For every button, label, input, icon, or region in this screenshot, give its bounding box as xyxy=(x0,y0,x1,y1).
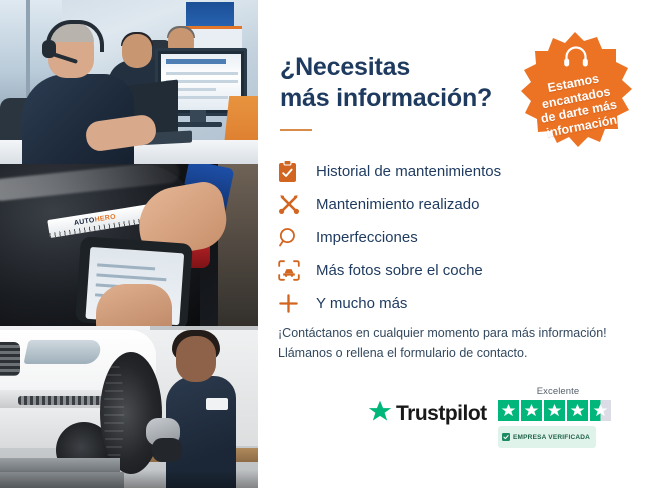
inspection-photo: AUTOHERO xyxy=(0,164,258,326)
star-filled xyxy=(521,400,542,421)
feature-list: Historial de mantenimientos M xyxy=(278,155,628,320)
contact-paragraph-line-2: Llámanos o rellena el formulario de cont… xyxy=(278,343,638,363)
feature-item-imperfecciones: Imperfecciones xyxy=(278,221,628,253)
feature-item-mantenimiento: Mantenimiento realizado xyxy=(278,188,628,220)
check-square-icon xyxy=(502,428,510,446)
headset-icon xyxy=(563,46,589,68)
trustpilot-star-icon xyxy=(368,400,392,428)
coworker-head xyxy=(122,34,152,68)
tablet-text-line xyxy=(96,273,166,281)
page-title-line-1: ¿Necesitas xyxy=(280,52,530,83)
workshop-photo xyxy=(0,326,258,488)
tools-cross-icon xyxy=(278,191,308,217)
plus-icon xyxy=(278,290,308,316)
star-filled xyxy=(544,400,565,421)
monitor-base xyxy=(174,122,222,127)
screen-row xyxy=(166,72,238,75)
uniform-logo xyxy=(206,398,228,410)
support-badge: Estamos encantados de darte más informac… xyxy=(511,28,639,156)
star-filled xyxy=(567,400,588,421)
feature-label: Más fotos sobre el coche xyxy=(316,262,483,279)
feature-label: Imperfecciones xyxy=(316,229,418,246)
trustpilot-rating: Excelente xyxy=(498,386,618,448)
mechanic-glove-dark xyxy=(152,438,182,462)
mechanic-head xyxy=(176,336,216,382)
star-filled xyxy=(498,400,519,421)
tablet-text-line xyxy=(97,263,155,270)
clipboard-check-icon xyxy=(278,158,308,184)
tire-tread xyxy=(104,358,124,468)
feature-label: Mantenimiento realizado xyxy=(316,196,479,213)
photo-column: AUTOHERO xyxy=(0,0,258,488)
floor-shadow xyxy=(0,470,258,488)
star-rating xyxy=(498,400,618,421)
feature-item-mas: Y mucho más xyxy=(278,287,628,319)
page-title: ¿Necesitas más información? xyxy=(280,52,530,113)
verified-label: EMPRESA VERIFICADA xyxy=(513,434,590,441)
trustpilot-wordmark: Trustpilot xyxy=(396,402,487,426)
trustpilot-logo[interactable]: Trustpilot xyxy=(368,400,487,428)
car-headlight xyxy=(23,340,102,364)
call-center-photo xyxy=(0,0,258,164)
page-title-line-2: más información? xyxy=(280,83,530,114)
feature-item-historial: Historial de mantenimientos xyxy=(278,155,628,187)
rating-label: Excelente xyxy=(498,386,618,397)
content-panel: ¿Necesitas más información? Estamos enca… xyxy=(258,0,650,488)
verified-badge: EMPRESA VERIFICADA xyxy=(498,426,596,448)
magnifier-icon xyxy=(278,224,308,250)
inspector-hand-lower xyxy=(96,284,172,326)
trustpilot-block: Trustpilot Excelente xyxy=(368,386,638,456)
star-half xyxy=(590,400,611,421)
feature-label: Historial de mantenimientos xyxy=(316,163,501,180)
contact-paragraph-line-1: ¡Contáctanos en cualquier momento para m… xyxy=(278,323,638,343)
car-scan-icon xyxy=(278,257,308,283)
title-underline-rule xyxy=(280,129,312,131)
feature-item-fotos: Más fotos sobre el coche xyxy=(278,254,628,286)
contact-paragraph: ¡Contáctanos en cualquier momento para m… xyxy=(278,323,638,364)
promo-banner: AUTOHERO xyxy=(0,0,650,488)
screen-header-bar xyxy=(166,59,226,64)
feature-label: Y mucho más xyxy=(316,295,407,312)
car-grille xyxy=(0,342,20,376)
